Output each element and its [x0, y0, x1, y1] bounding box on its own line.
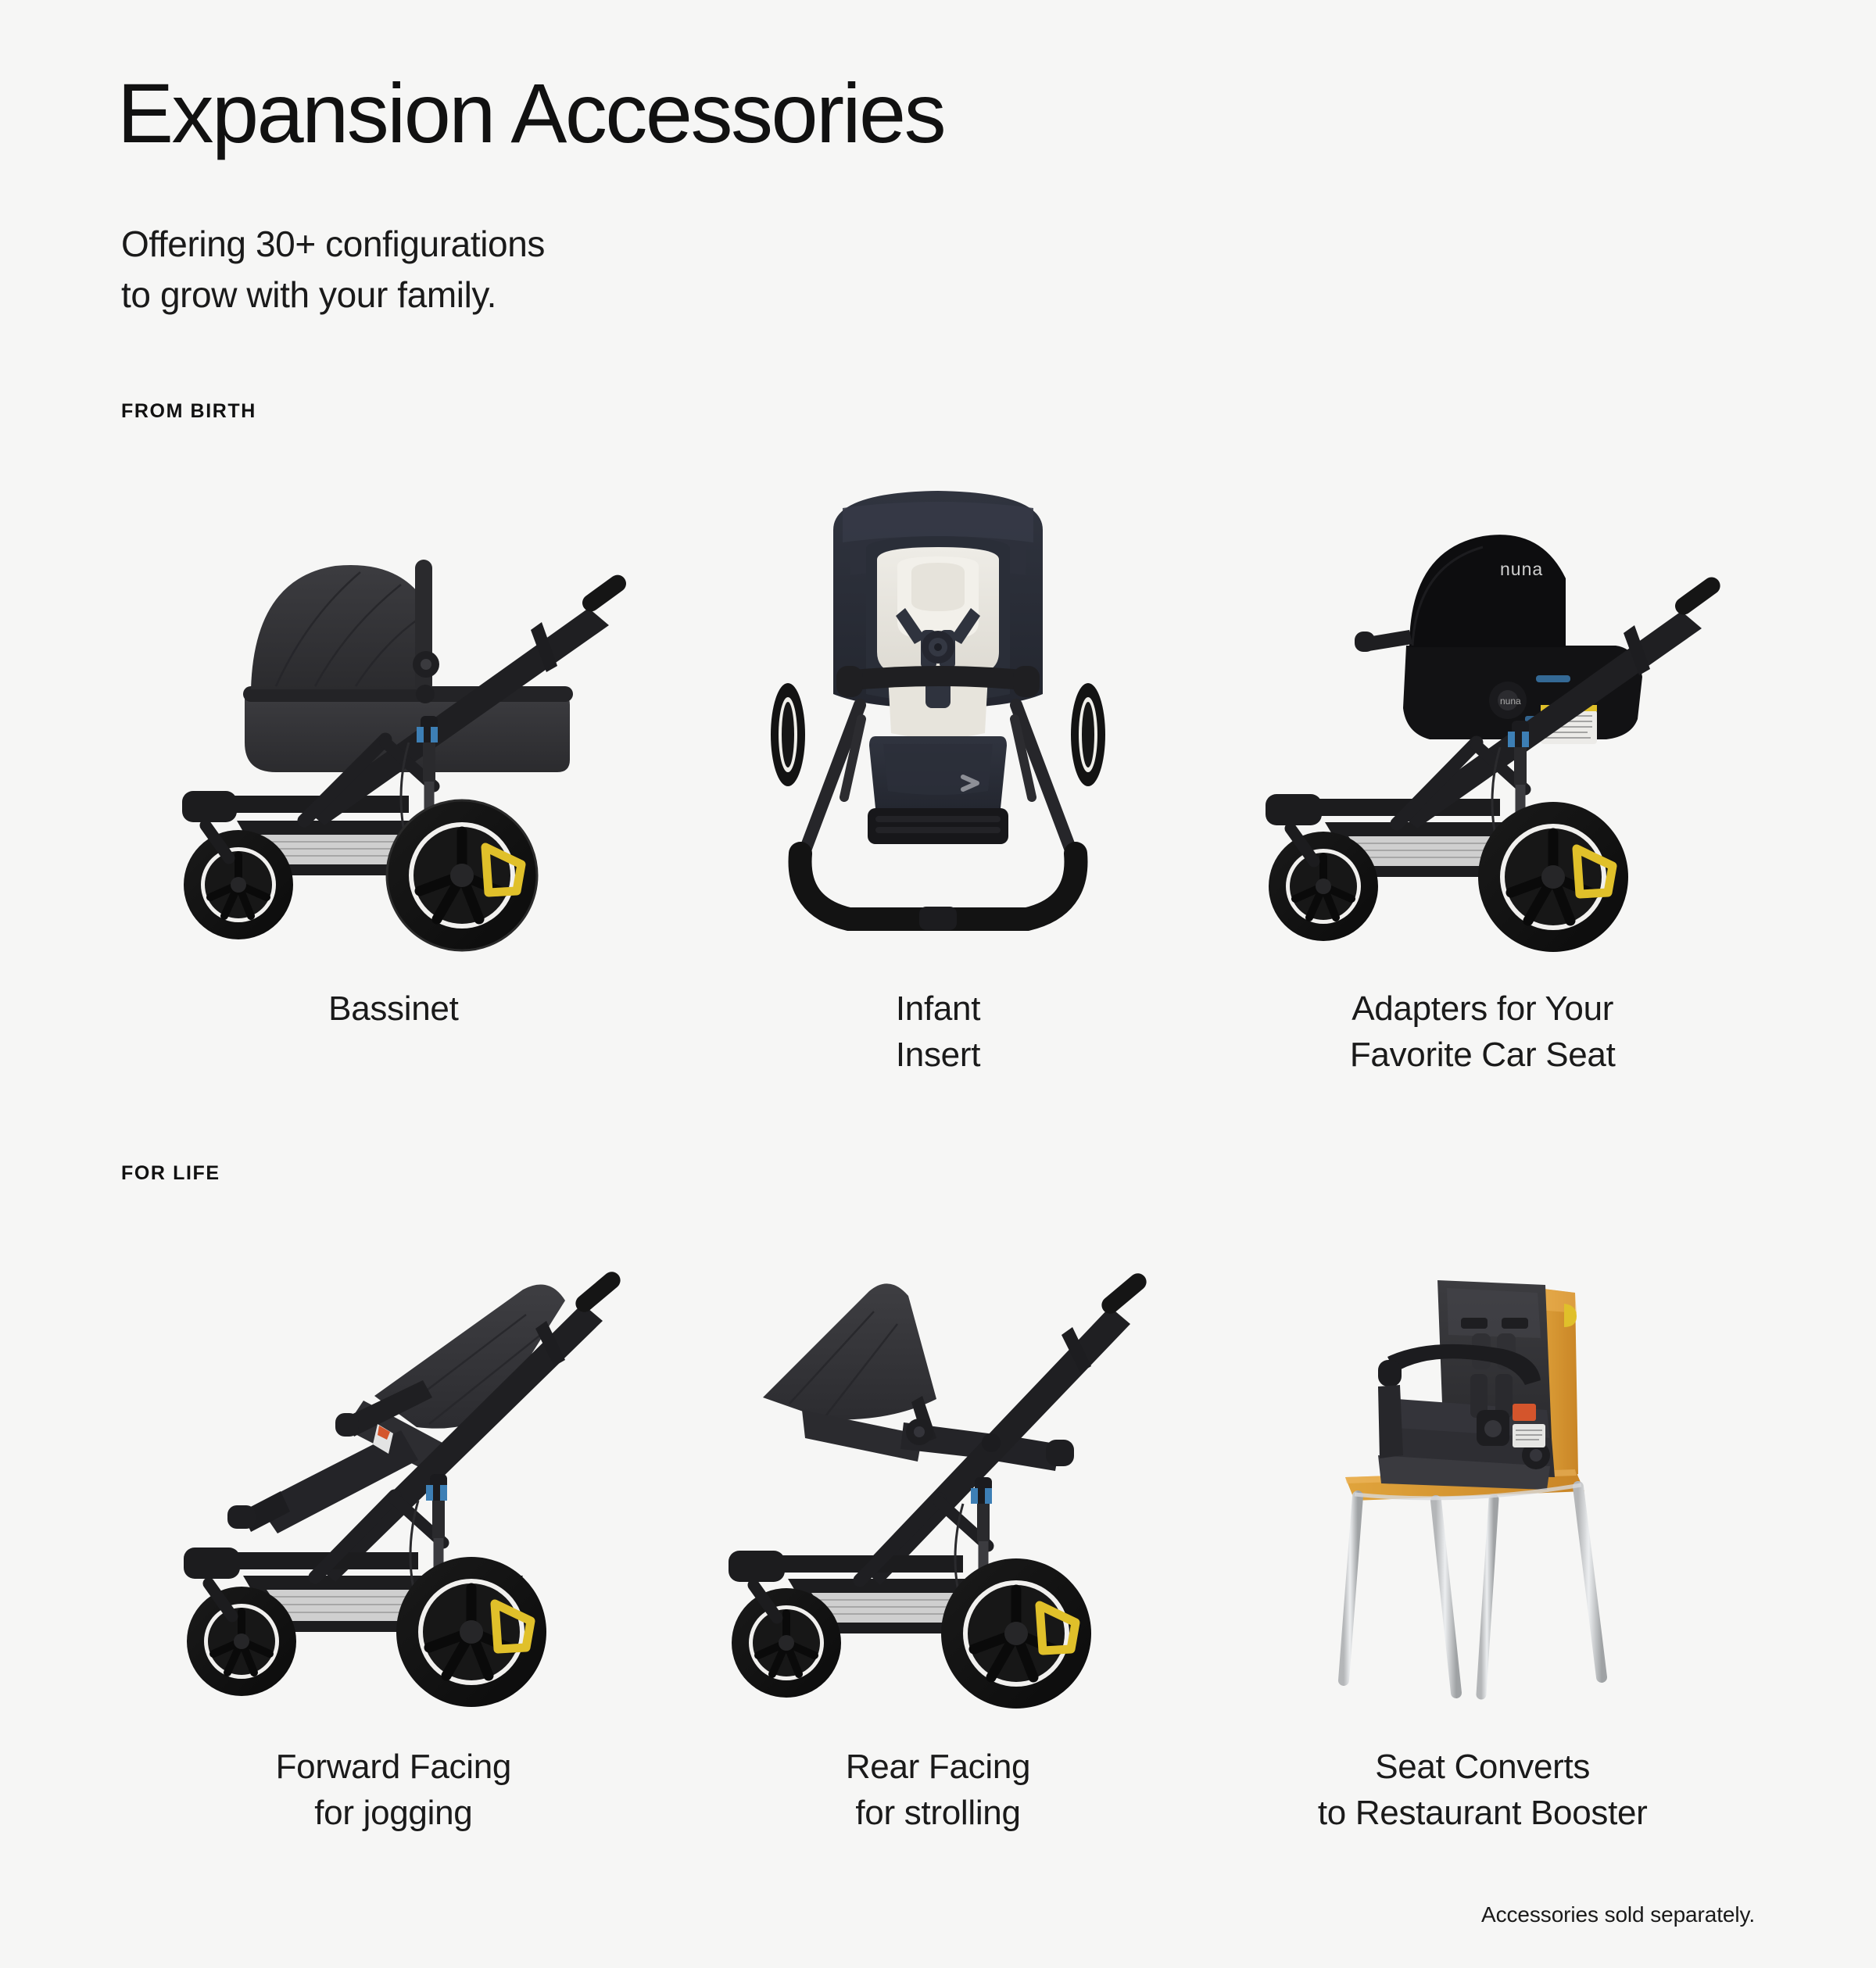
section-label-from-birth: FROM BIRTH	[121, 400, 256, 423]
product-row-for-life: veer	[121, 1227, 1755, 1836]
chair-leg	[1578, 1487, 1602, 1677]
rear-wheel	[1478, 802, 1628, 952]
page-subtitle: Offering 30+ configurations to grow with…	[121, 219, 545, 321]
stroller-infant-insert-illustration	[758, 485, 1118, 954]
svg-text:nuna: nuna	[1500, 696, 1521, 707]
rear-facing-figure: veer	[666, 1227, 1211, 1712]
section-label-for-life: FOR LIFE	[121, 1162, 220, 1185]
product-caption: Rear Facing for strolling	[846, 1744, 1030, 1836]
rear-wheel	[387, 800, 537, 950]
booster-seat-on-chair-illustration	[1303, 1243, 1663, 1712]
product-card-car-seat-adapter[interactable]: nuna nuna	[1210, 469, 1755, 1078]
stroller-forward-facing-illustration: veer	[143, 1243, 643, 1712]
car-seat-adapter-figure: nuna nuna	[1210, 469, 1755, 954]
stroller-bassinet-illustration: veer	[151, 485, 635, 954]
footnote-accessories-sold-separately: Accessories sold separately.	[1481, 1902, 1755, 1927]
nuna-brand-logo: nuna	[1500, 559, 1543, 579]
page-title: Expansion Accessories	[117, 69, 944, 157]
product-caption: Bassinet	[328, 986, 458, 1032]
product-card-bassinet[interactable]: veer	[121, 469, 666, 1078]
rear-wheel	[396, 1557, 546, 1707]
forward-facing-figure: veer	[121, 1227, 666, 1712]
product-caption: Adapters for Your Favorite Car Seat	[1350, 986, 1616, 1078]
product-row-from-birth: veer	[121, 469, 1755, 1078]
expansion-accessories-page: Expansion Accessories Offering 30+ confi…	[0, 0, 1876, 1968]
chair-leg	[1481, 1499, 1494, 1694]
restaurant-booster-figure	[1210, 1227, 1755, 1712]
chair-leg	[1344, 1496, 1358, 1680]
product-caption: Seat Converts to Restaurant Booster	[1318, 1744, 1648, 1836]
product-card-forward-facing[interactable]: veer	[121, 1227, 666, 1836]
product-caption: Infant Insert	[896, 986, 980, 1078]
product-caption: Forward Facing for jogging	[276, 1744, 511, 1836]
product-card-rear-facing[interactable]: veer	[666, 1227, 1211, 1836]
stroller-car-seat-adapter-illustration: nuna nuna	[1225, 485, 1741, 954]
rear-wheel	[941, 1558, 1091, 1709]
infant-insert-figure	[666, 469, 1211, 954]
chair-leg	[1436, 1501, 1456, 1693]
stroller-rear-facing-illustration: veer	[688, 1243, 1188, 1712]
bassinet-figure: veer	[121, 469, 666, 954]
product-card-infant-insert[interactable]: Infant Insert	[666, 469, 1211, 1078]
product-card-restaurant-booster[interactable]: Seat Converts to Restaurant Booster	[1210, 1227, 1755, 1836]
